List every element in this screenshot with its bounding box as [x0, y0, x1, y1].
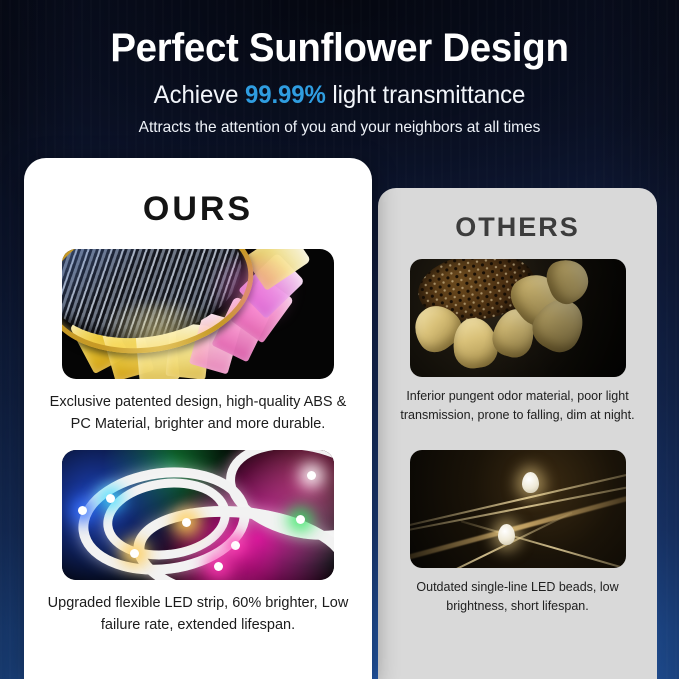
led-light [130, 549, 139, 558]
sunflower-solar-light-photo [62, 249, 334, 379]
ours-card: OURS Exclusive patented design, high-qua… [24, 158, 372, 679]
header-block: Perfect Sunflower Design Achieve 99.99% … [0, 0, 679, 137]
led-bead [498, 524, 515, 545]
others-title: OTHERS [378, 188, 657, 243]
led-light [307, 471, 316, 480]
led-light [231, 541, 240, 550]
subtitle: Achieve 99.99% light transmittance [14, 81, 666, 110]
comparison-infographic: Perfect Sunflower Design Achieve 99.99% … [0, 0, 679, 679]
subtitle-suffix: light transmittance [326, 81, 526, 109]
led-light [214, 562, 223, 571]
dim-sunflower-photo [410, 259, 626, 377]
ours-title: OURS [24, 158, 372, 229]
led-wire [410, 468, 626, 528]
others-caption-2: Outdated single-line LED beads, low brig… [378, 568, 657, 617]
transmittance-value: 99.99% [245, 81, 326, 109]
warm-glow [84, 304, 234, 376]
page-title: Perfect Sunflower Design [14, 27, 666, 70]
subtitle-prefix: Achieve [154, 81, 245, 109]
tagline: Attracts the attention of you and your n… [10, 119, 669, 137]
others-card: OTHERS Inferior pungent odor material, p… [378, 188, 657, 679]
rgb-led-strip-photo [62, 450, 334, 580]
led-light [182, 518, 191, 527]
pink-glow [198, 257, 307, 325]
others-caption-1: Inferior pungent odor material, poor lig… [378, 377, 657, 426]
led-light [296, 515, 305, 524]
led-bead [522, 472, 539, 493]
ours-caption-1: Exclusive patented design, high-quality … [24, 379, 372, 436]
led-light [106, 494, 115, 503]
photo-shading [410, 259, 626, 377]
single-line-led-beads-photo [410, 450, 626, 568]
ours-caption-2: Upgraded flexible LED strip, 60% brighte… [24, 580, 372, 637]
